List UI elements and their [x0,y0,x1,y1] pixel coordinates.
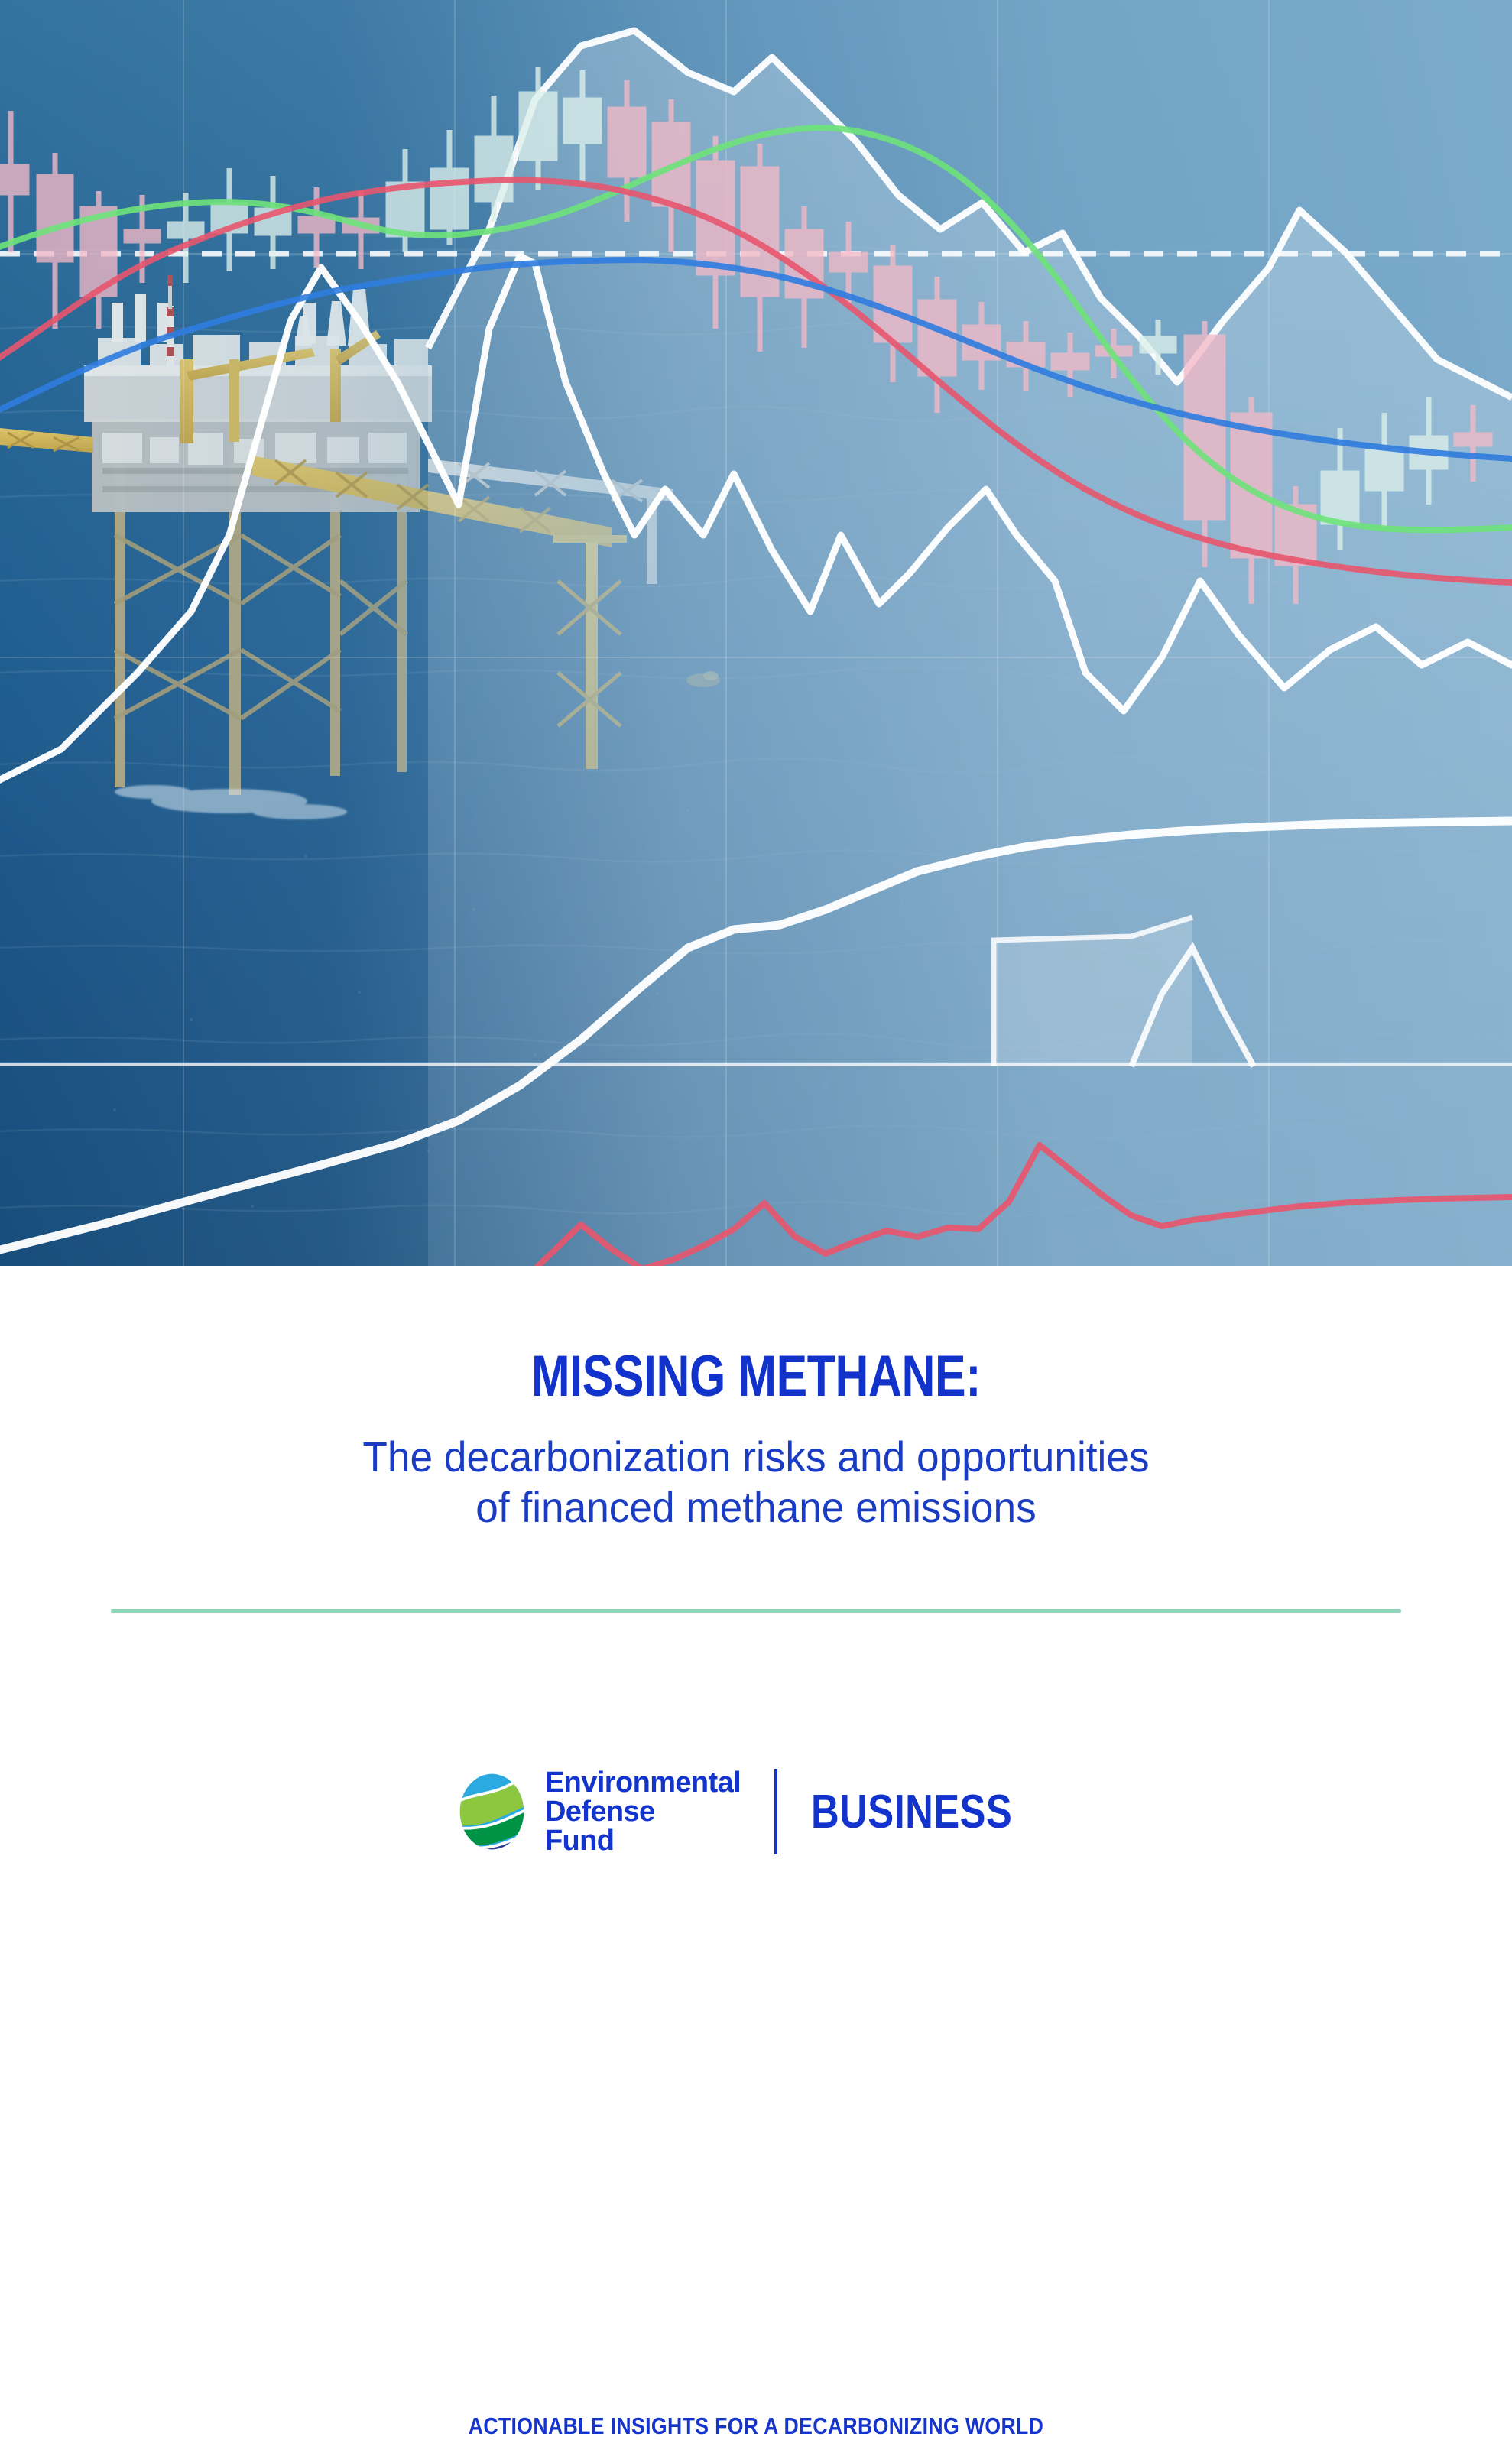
edf-globe-waves-icon [456,1769,528,1854]
logo-divider-icon [774,1769,777,1854]
hero-graphic [0,0,1512,1266]
hero-cover-image [0,0,1512,1266]
logo-lockup: Environmental Defense Fund BUSINESS [0,1747,1512,1877]
divider-rule [111,1609,1401,1613]
business-wordmark: BUSINESS [811,1785,1012,1839]
page-title: MISSING METHANE: [151,1348,1361,1406]
edf-wordmark: Environmental Defense Fund [545,1768,741,1855]
tagline: ACTIONABLE INSIGHTS FOR A DECARBONIZING … [105,2412,1406,2440]
page-subtitle: The decarbonization risks and opportunit… [37,1432,1474,1533]
